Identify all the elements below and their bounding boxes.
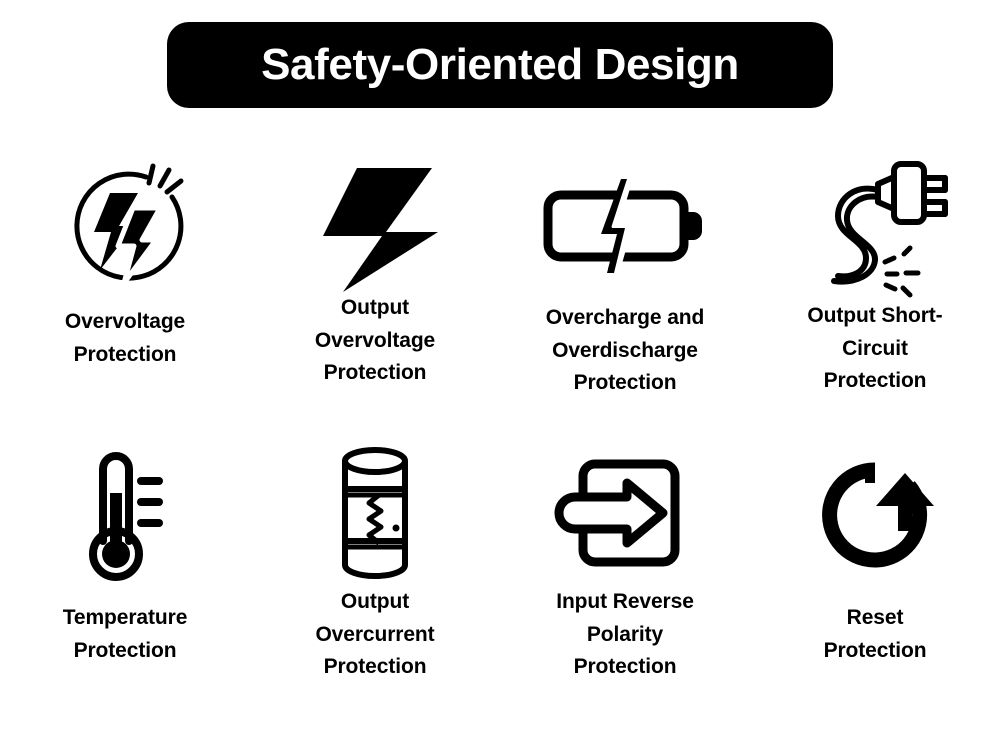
feature-label-line-3: Protection [556,651,694,684]
feature-label-line-1: Reset [824,602,927,635]
page-title: Safety-Oriented Design [261,43,739,87]
feature-label: Output Overcurrent Protection [315,586,434,684]
fuse-cylinder-icon [320,440,430,590]
feature-item-overvoltage-protection: Overvoltage Protection [0,150,250,440]
arrow-into-box-icon [545,440,705,590]
feature-label-line-3: Protection [315,357,435,390]
feature-item-reset-protection: Reset Protection [750,440,1000,730]
feature-label-line-1: Overcharge and [546,302,705,335]
feature-label-line-3: Protection [546,367,705,400]
feature-label: Overvoltage Protection [65,306,185,371]
feature-label-line-2: Circuit [807,333,942,366]
feature-label-line-3: Protection [315,651,434,684]
feature-label-line-2: Protection [65,339,185,372]
lightning-bolt-filled-icon [300,150,450,300]
feature-item-overcharge-overdischarge-protection: Overcharge and Overdischarge Protection [500,150,750,440]
circle-double-lightning-spark-icon [50,150,200,300]
feature-item-output-overvoltage-protection: Output Overvoltage Protection [250,150,500,440]
title-banner: Safety-Oriented Design [167,22,833,108]
feature-label: Output Short- Circuit Protection [807,300,942,398]
feature-label-line-3: Protection [807,365,942,398]
feature-label: Temperature Protection [63,602,188,667]
feature-label-line-2: Polarity [556,619,694,652]
feature-label-line-1: Input Reverse [556,586,694,619]
feature-label-line-1: Output Short- [807,300,942,333]
feature-item-temperature-protection: Temperature Protection [0,440,250,730]
circular-reset-arrow-icon [810,440,940,590]
feature-label: Input Reverse Polarity Protection [556,586,694,684]
feature-label-line-1: Temperature [63,602,188,635]
feature-item-input-reverse-polarity-protection: Input Reverse Polarity Protection [500,440,750,730]
feature-label-line-2: Protection [63,635,188,668]
feature-label: Output Overvoltage Protection [315,292,435,390]
safety-features-infographic: Safety-Oriented Design Overvoltage Prote… [0,0,1000,750]
feature-label: Reset Protection [824,602,927,667]
feature-label-line-1: Output [315,292,435,325]
feature-item-output-short-circuit-protection: Output Short- Circuit Protection [750,150,1000,440]
feature-label-line-2: Overcurrent [315,619,434,652]
feature-label-line-2: Protection [824,635,927,668]
feature-label-line-2: Overvoltage [315,325,435,358]
feature-label: Overcharge and Overdischarge Protection [546,302,705,400]
feature-label-line-2: Overdischarge [546,335,705,368]
feature-label-line-1: Overvoltage [65,306,185,339]
broken-plug-spark-icon [790,150,960,300]
feature-grid: Overvoltage Protection Output Overvoltag… [0,150,1000,750]
battery-lightning-icon [530,150,720,300]
feature-label-line-1: Output [315,586,434,619]
thermometer-icon [65,440,185,590]
feature-item-output-overcurrent-protection: Output Overcurrent Protection [250,440,500,730]
